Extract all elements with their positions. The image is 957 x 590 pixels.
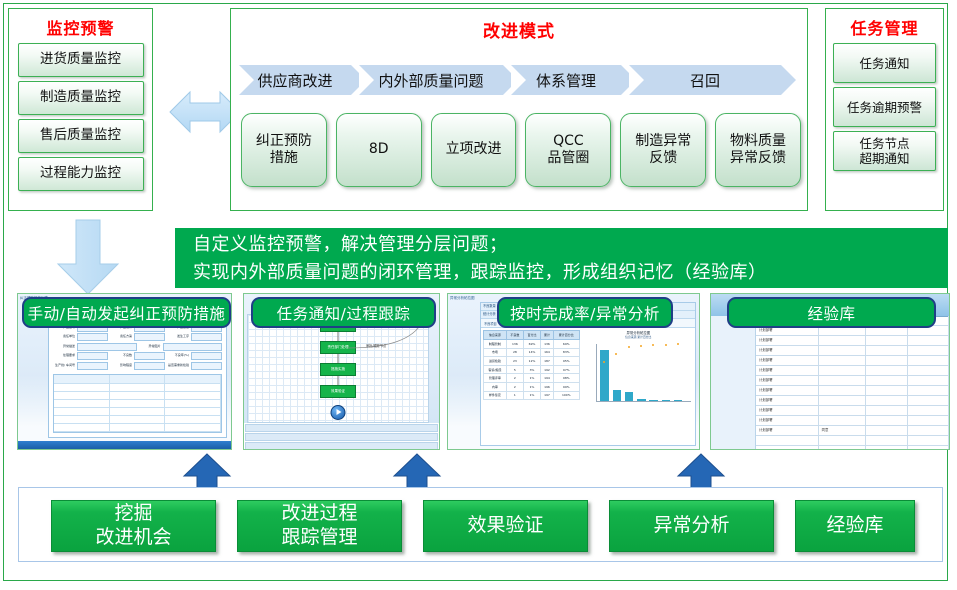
task-item-notification[interactable]: 任务通知 <box>833 43 936 83</box>
cell <box>866 386 907 395</box>
table-row[interactable]: 市场2814%16483% <box>484 348 580 357</box>
cell: 197 <box>541 391 554 400</box>
legend-item-line: 累计百分比 <box>637 335 651 339</box>
improvement-mode-panel: 改进模式 供应商改进 内外部质量问题 体系管理 召回 纠正预防 措施 8D 立项… <box>230 8 808 211</box>
stage-supplier-improvement[interactable]: 供应商改进 <box>239 65 351 95</box>
field-label: 异常描述 <box>53 343 75 351</box>
cell <box>110 408 166 415</box>
table-row[interactable] <box>54 416 221 424</box>
table-row[interactable]: 客诉/抱怨53%19297% <box>484 365 580 374</box>
stage-label: 内外部质量问题 <box>378 70 483 91</box>
cell <box>866 356 907 365</box>
stage-label: 体系管理 <box>536 70 596 91</box>
shot-label-pareto-analysis: 按时完成率/异常分析 <box>497 297 673 328</box>
bar-6 <box>662 400 670 401</box>
footer-bar <box>245 442 438 450</box>
form-row: 责任单位 责任方第 发生工序 <box>49 333 226 343</box>
cell <box>54 384 110 391</box>
module-8d[interactable]: 8D <box>336 113 422 187</box>
field-label: 生产线/ 车间号 <box>53 362 75 370</box>
cell <box>165 416 221 423</box>
monitoring-alert-panel: 监控预警 进货质量监控 制造质量监控 售后质量监控 过程能力监控 <box>8 8 153 211</box>
monitoring-panel-title: 监控预警 <box>9 15 152 39</box>
table-header-row: 信息来源 不良数 百分比 累计 累计百分比 <box>484 331 580 340</box>
cell-label: 计划部署 <box>756 356 819 365</box>
cell-label: 计划部署 <box>756 366 819 375</box>
cell: 23 <box>506 357 523 366</box>
col-cumulative-pct: 累计百分比 <box>553 331 579 340</box>
task-item-node-overdue-notice[interactable]: 任务节点 超期通知 <box>833 131 936 171</box>
window-sidebar[interactable] <box>711 316 756 449</box>
cell: 196 <box>541 382 554 391</box>
field-label: 处理要求 <box>53 352 75 360</box>
cell <box>908 426 949 435</box>
flow-footer-bars <box>244 423 439 449</box>
cell <box>756 446 819 450</box>
cell: 136 <box>506 340 523 349</box>
cum-point-6 <box>665 344 667 346</box>
cell-label: 计划部署 <box>756 336 819 345</box>
field-input[interactable] <box>134 362 165 370</box>
field-label: 影响程度 <box>110 362 132 370</box>
col-defect-qty: 不良数 <box>506 331 523 340</box>
improvement-panel-title: 改进模式 <box>231 17 807 42</box>
cell <box>54 400 110 407</box>
cell: 83% <box>553 348 579 357</box>
experience-table: 计划部署 计划部署 计划部署 计划部署 计划部署 计划部署 计划部署 计划部署 … <box>756 316 949 449</box>
cell: 97% <box>553 365 579 374</box>
table-row[interactable]: 内审21%19699% <box>484 382 580 391</box>
field-label: 不良数 <box>110 352 132 360</box>
cell <box>866 416 907 425</box>
cell: 136 <box>541 340 554 349</box>
cell <box>908 436 949 445</box>
cell <box>110 400 166 407</box>
column-header-defect-cause <box>54 375 110 383</box>
cell: 市场 <box>484 348 507 357</box>
cell <box>908 396 949 405</box>
module-corrective-preventive[interactable]: 纠正预防 措施 <box>241 113 327 187</box>
table-row[interactable]: 管理评审21%19498% <box>484 374 580 383</box>
field-input[interactable] <box>77 333 108 341</box>
cell <box>908 346 949 355</box>
legend-item-bars: 信息来源 <box>625 335 636 339</box>
cell-note: 同意 <box>819 426 867 435</box>
cell-label: 计划部署 <box>756 396 819 405</box>
table-row[interactable]: 计划部署 <box>756 386 949 396</box>
table-row[interactable]: 计划部署 <box>756 396 949 406</box>
cum-point-2 <box>615 353 617 355</box>
cell: 1% <box>523 382 540 391</box>
cell <box>110 384 166 391</box>
analysis-body: 信息来源 不良数 百分比 累计 累计百分比 制程管制13669%13669% 市… <box>481 328 695 416</box>
cell-label: 计划部署 <box>756 406 819 415</box>
cum-point-5 <box>652 344 654 346</box>
cell <box>908 376 949 385</box>
stage-chevron-row: 供应商改进 内外部质量问题 体系管理 召回 <box>239 65 801 95</box>
field-label: 发生工序 <box>167 333 189 341</box>
table-row[interactable]: 计划部署 <box>756 366 949 376</box>
bar-7 <box>674 400 682 401</box>
monitor-item-incoming[interactable]: 进货质量监控 <box>18 43 144 77</box>
field-label: 不良率(%) <box>167 352 189 360</box>
table-row[interactable]: 制程管制13669%13669% <box>484 340 580 349</box>
cell: 164 <box>541 348 554 357</box>
stage-system-management[interactable]: 体系管理 <box>511 65 621 95</box>
cell: 1% <box>523 391 540 400</box>
col-cumulative: 累计 <box>541 331 554 340</box>
field-input[interactable] <box>134 352 165 360</box>
table-row[interactable] <box>54 424 221 432</box>
cell: 1 <box>506 391 523 400</box>
cell: 100% <box>553 391 579 400</box>
cum-point-4 <box>640 345 642 347</box>
cell <box>819 376 867 385</box>
task-item-overdue-alert[interactable]: 任务逾期预警 <box>833 87 936 127</box>
bar-2 <box>613 390 621 401</box>
cell: 内审 <box>484 382 507 391</box>
cell: 69% <box>523 340 540 349</box>
outcome-box-opportunity[interactable]: 挖掘 改进机会 <box>51 500 216 552</box>
module-project-improvement[interactable]: 立项改进 <box>431 113 517 187</box>
table-row[interactable]: 计划部署 <box>756 406 949 416</box>
cell: 样件鉴定 <box>484 391 507 400</box>
cell <box>866 436 907 445</box>
bar-4 <box>637 399 645 401</box>
cell-label: 计划部署 <box>756 346 819 355</box>
app-taskbar <box>18 441 231 449</box>
cell <box>819 436 867 445</box>
outcome-box-effect-verification[interactable]: 效果验证 <box>423 500 588 552</box>
table-row[interactable] <box>54 400 221 408</box>
summary-banner: 自定义监控预警，解决管理分层问题； 实现内外部质量问题的闭环管理，跟踪监控，形成… <box>175 228 948 288</box>
footer-bar <box>245 424 438 432</box>
cell <box>866 336 907 345</box>
cell <box>110 416 166 423</box>
bar-3 <box>625 392 633 401</box>
bar-1 <box>600 350 608 401</box>
cell-label: 计划部署 <box>756 386 819 395</box>
module-manufacturing-abnormal-feedback[interactable]: 制造异常 反馈 <box>620 113 706 187</box>
cell <box>866 346 907 355</box>
task-management-panel: 任务管理 任务通知 任务逾期预警 任务节点 超期通知 <box>825 8 944 211</box>
shot-label-corrective-action: 手动/自动发起纠正预防措施 <box>22 297 231 328</box>
column-header-defect-qty <box>165 375 221 383</box>
cell: 194 <box>541 374 554 383</box>
cell: 95% <box>553 357 579 366</box>
stage-recall[interactable]: 召回 <box>629 65 781 95</box>
table-row[interactable]: 计划部署 <box>756 346 949 356</box>
cell <box>908 416 949 425</box>
cell: 1% <box>523 374 540 383</box>
stage-label: 召回 <box>690 70 720 91</box>
field-input[interactable] <box>191 362 222 370</box>
outcome-box-experience-library[interactable]: 经验库 <box>795 500 915 552</box>
cell: 制程管制 <box>484 340 507 349</box>
cell: 192 <box>541 365 554 374</box>
cell: 进货检验 <box>484 357 507 366</box>
stage-label: 供应商改进 <box>257 70 332 91</box>
cell <box>866 376 907 385</box>
outcome-box-process-tracking[interactable]: 改进过程 跟踪管理 <box>237 500 402 552</box>
radio-defect-item[interactable]: 不良项目 <box>484 321 497 326</box>
cell: 客诉/抱怨 <box>484 365 507 374</box>
cell: 管理评审 <box>484 374 507 383</box>
cell: 69% <box>553 340 579 349</box>
outcome-box-abnormal-analysis[interactable]: 异常分析 <box>609 500 774 552</box>
table-row[interactable]: 计划部署 <box>756 416 949 426</box>
cell <box>110 424 166 431</box>
cell <box>908 356 949 365</box>
footer-bar <box>245 433 438 441</box>
workflow-canvas[interactable]: 接收任务 责任部门处理 措施实施 效果验证 审批/跟踪节点 <box>247 314 429 423</box>
field-label: 责任单位 <box>53 333 75 341</box>
table-header-row <box>54 375 221 384</box>
cell <box>819 416 867 425</box>
cell <box>165 392 221 399</box>
field-input[interactable] <box>134 333 165 341</box>
field-input[interactable] <box>163 343 223 351</box>
cell <box>165 400 221 407</box>
cell <box>908 406 949 415</box>
flow-branch-label: 审批/跟踪节点 <box>366 343 386 348</box>
cell <box>819 366 867 375</box>
cell: 187 <box>541 357 554 366</box>
cell <box>54 416 110 423</box>
cell <box>110 392 166 399</box>
cell-label: 计划部署 <box>756 426 819 435</box>
col-percent: 百分比 <box>523 331 540 340</box>
cell <box>908 366 949 375</box>
column-header-measure <box>110 375 166 383</box>
table-row[interactable] <box>756 446 949 450</box>
stage-internal-external-quality[interactable]: 内外部质量问题 <box>359 65 503 95</box>
field-label: 是否需重新检验 <box>167 362 189 370</box>
pareto-table: 信息来源 不良数 百分比 累计 累计百分比 制程管制13669%13669% 市… <box>481 328 582 416</box>
cell-label: 计划部署 <box>756 376 819 385</box>
cell <box>54 424 110 431</box>
pareto-chart: 异常分析帕拉图 信息来源 累计百分比 <box>582 328 695 416</box>
form-detail-table <box>53 374 222 433</box>
table-row[interactable]: 计划部署同意 <box>756 426 949 436</box>
cell <box>819 336 867 345</box>
module-material-quality-abnormal-feedback[interactable]: 物料质量 异常反馈 <box>715 113 801 187</box>
monitor-item-process-capability[interactable]: 过程能力监控 <box>18 157 144 191</box>
form-row: 处理要求 不良数 不良率(%) <box>49 352 226 362</box>
cell: 12% <box>523 357 540 366</box>
cell: 2 <box>506 382 523 391</box>
cell <box>165 408 221 415</box>
cell <box>866 366 907 375</box>
cell <box>908 336 949 345</box>
shot-label-task-tracking: 任务通知/过程跟踪 <box>251 297 436 328</box>
monitor-item-aftersales[interactable]: 售后质量监控 <box>18 119 144 153</box>
app-window-title: 异常分析帕拉图 <box>450 296 475 301</box>
cell <box>819 356 867 365</box>
field-input[interactable] <box>191 333 222 341</box>
cell: 99% <box>553 382 579 391</box>
table-row[interactable] <box>54 408 221 416</box>
cell: 2 <box>506 374 523 383</box>
down-arrow-icon <box>55 218 121 296</box>
cell <box>54 408 110 415</box>
table-row[interactable] <box>756 436 949 446</box>
cell <box>908 386 949 395</box>
cell: 3% <box>523 365 540 374</box>
cell <box>866 426 907 435</box>
cell <box>756 436 819 445</box>
top-row: 监控预警 进货质量监控 制造质量监控 售后质量监控 过程能力监控 改进模式 供应… <box>8 8 944 211</box>
field-label: 责任方第 <box>110 333 132 341</box>
table-row[interactable]: 样件鉴定11%197100% <box>484 391 580 400</box>
cell <box>165 424 221 431</box>
outcome-row-frame: 挖掘 改进机会 改进过程 跟踪管理 效果验证 异常分析 经验库 <box>18 487 943 562</box>
table-row[interactable] <box>54 384 221 392</box>
field-input[interactable] <box>77 352 108 360</box>
table-row[interactable]: 计划部署 <box>756 376 949 386</box>
monitor-item-manufacturing[interactable]: 制造质量监控 <box>18 81 144 115</box>
flow-branch-line <box>248 315 428 422</box>
field-label: 异常图片 <box>139 343 161 351</box>
cell: 98% <box>553 374 579 383</box>
cell <box>866 396 907 405</box>
cell <box>54 392 110 399</box>
col-info-source: 信息来源 <box>484 331 507 340</box>
bar-5 <box>649 400 657 401</box>
table-row[interactable]: 进货检验2312%18795% <box>484 357 580 366</box>
cell <box>819 386 867 395</box>
chart-legend: 信息来源 累计百分比 <box>582 335 695 339</box>
field-input[interactable] <box>77 343 137 351</box>
table-row[interactable] <box>54 392 221 400</box>
field-input[interactable] <box>191 352 222 360</box>
cell <box>819 396 867 405</box>
cell-label: 计划部署 <box>756 416 819 425</box>
shot-label-experience-library: 经验库 <box>727 297 936 328</box>
cell <box>866 446 907 450</box>
table-row[interactable]: 计划部署 <box>756 336 949 346</box>
cum-point-7 <box>677 343 679 345</box>
cell <box>866 406 907 415</box>
cell: 5 <box>506 365 523 374</box>
cum-point-3 <box>628 346 630 348</box>
improvement-module-row: 纠正预防 措施 8D 立项改进 QCC 品管圈 制造异常 反馈 物料质量 异常反… <box>241 113 801 195</box>
form-row: 异常描述 异常图片 <box>49 343 226 353</box>
cell: 14% <box>523 348 540 357</box>
chart-plot-area <box>596 344 691 402</box>
task-panel-title: 任务管理 <box>826 15 943 39</box>
cell <box>819 406 867 415</box>
cell <box>819 346 867 355</box>
cell <box>819 446 867 450</box>
module-qcc[interactable]: QCC 品管圈 <box>525 113 611 187</box>
cell: 28 <box>506 348 523 357</box>
table-row[interactable]: 计划部署 <box>756 356 949 366</box>
cell <box>165 384 221 391</box>
cell <box>908 446 949 450</box>
field-input[interactable] <box>77 362 108 370</box>
form-row: 生产线/ 车间号 影响程度 是否需重新检验 <box>49 362 226 372</box>
